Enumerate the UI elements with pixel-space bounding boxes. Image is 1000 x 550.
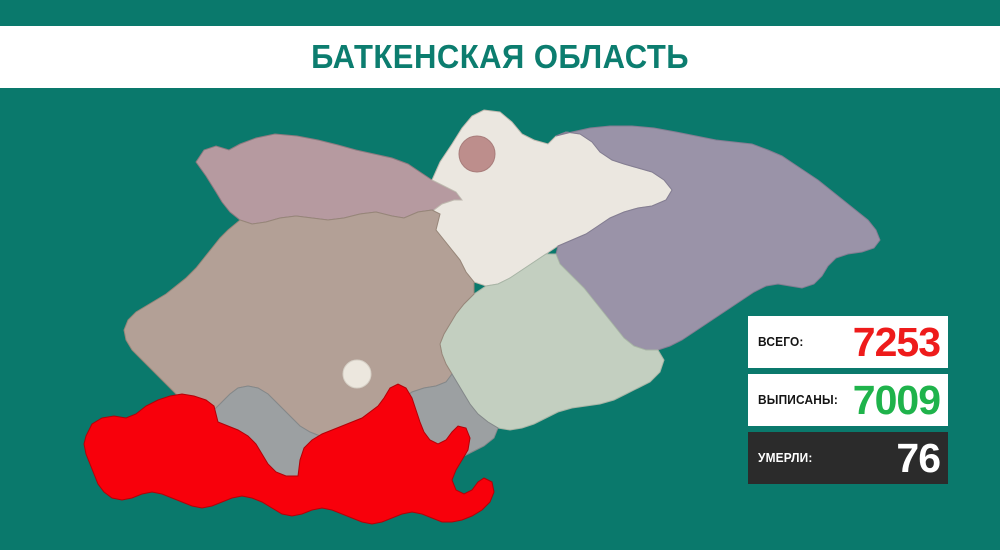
stat-row-recovered: ВЫПИСАНЫ: 7009 [748,374,948,426]
city-marker-osh[interactable] [343,360,371,388]
stat-label-total: ВСЕГО: [758,335,804,349]
city-marker-bishkek[interactable] [459,136,495,172]
page-title: БАТКЕНСКАЯ ОБЛАСТЬ [311,38,689,76]
stat-row-deaths: УМЕРЛИ: 76 [748,432,948,484]
statistics-panel: ВСЕГО: 7253 ВЫПИСАНЫ: 7009 УМЕРЛИ: 76 [748,316,948,484]
infographic-root: БАТКЕНСКАЯ ОБЛАСТЬ ВСЕГО: [0,0,1000,550]
stat-row-total: ВСЕГО: 7253 [748,316,948,368]
stat-value-recovered: 7009 [853,380,940,421]
stat-value-deaths: 76 [896,438,940,479]
top-accent-strip [0,0,1000,26]
title-band: БАТКЕНСКАЯ ОБЛАСТЬ [0,26,1000,88]
stat-label-deaths: УМЕРЛИ: [758,451,813,465]
stat-value-total: 7253 [853,322,940,363]
stat-label-recovered: ВЫПИСАНЫ: [758,393,838,407]
map-region-talas[interactable] [196,134,462,224]
